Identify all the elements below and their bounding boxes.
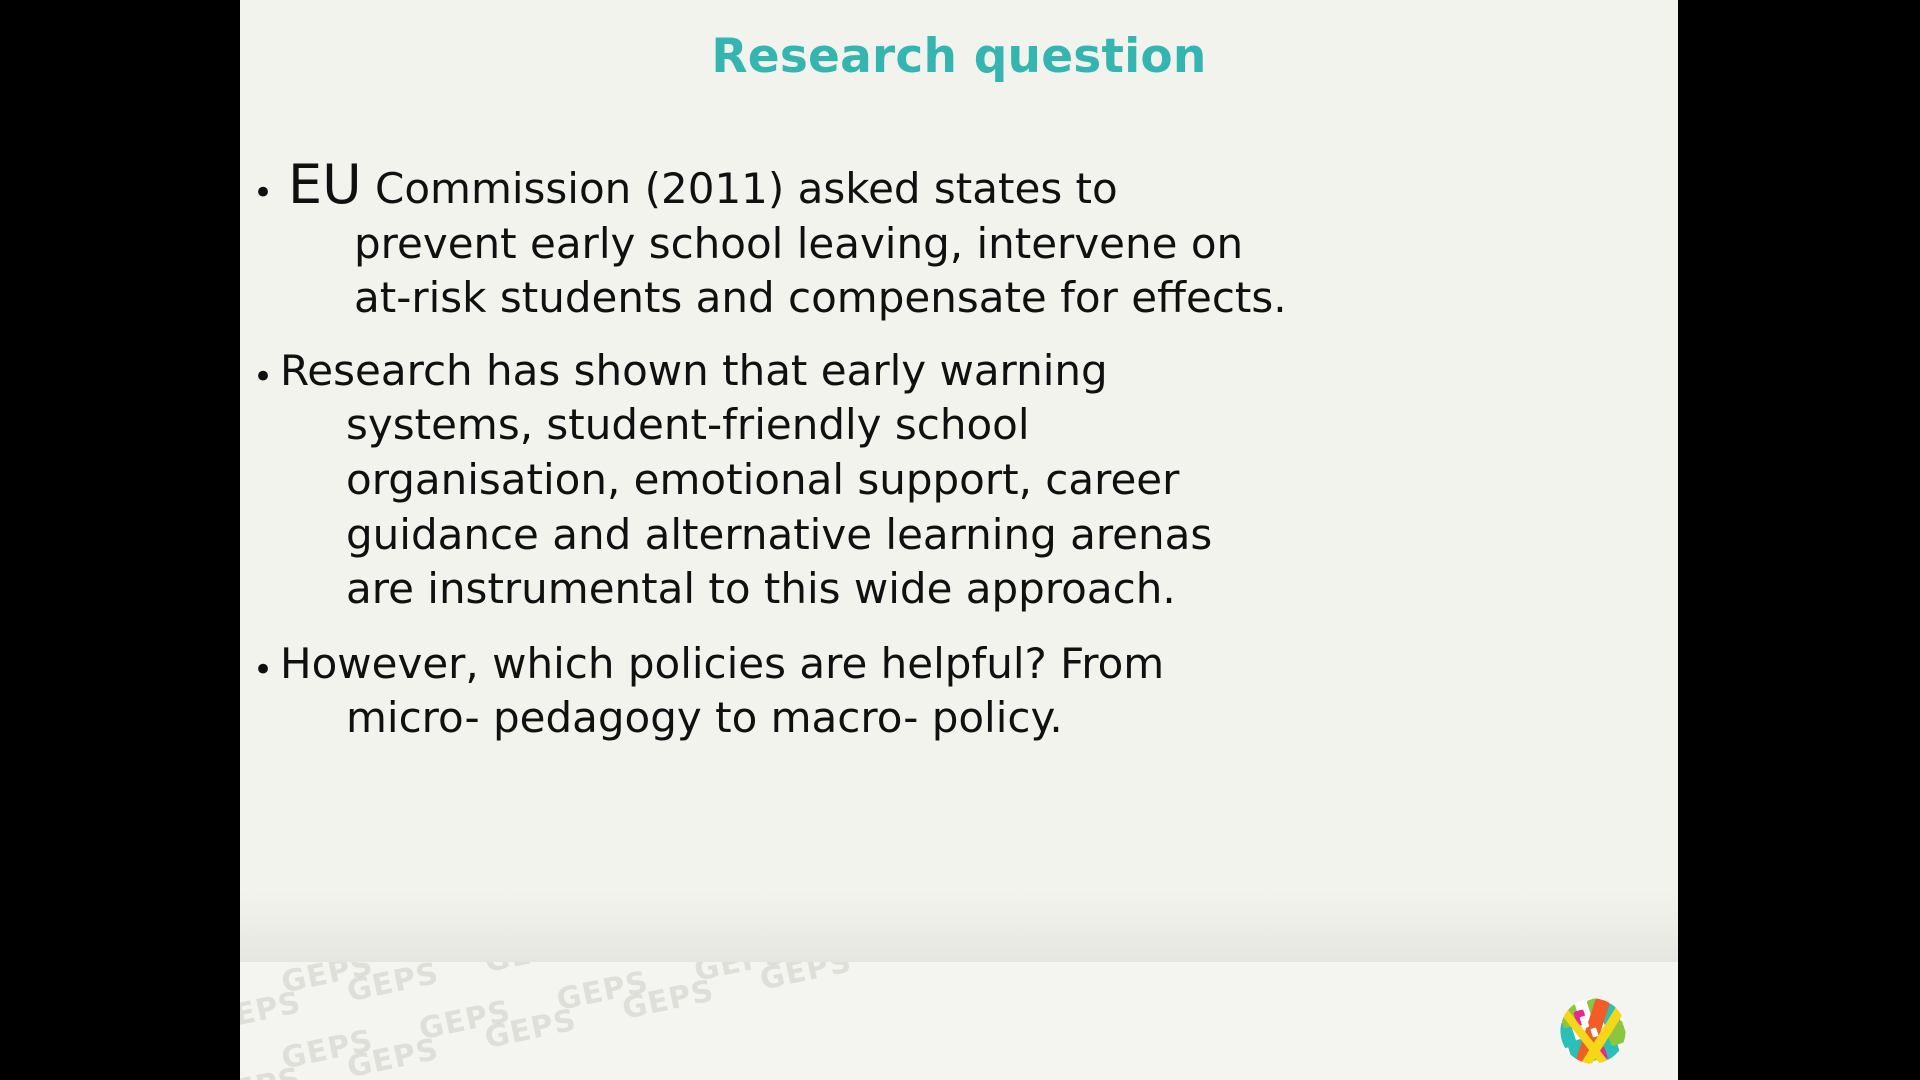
bullet-3-line-1: However, which policies are helpful? Fro… [280, 637, 1448, 692]
presentation-slide: Research question • EU Commission (2011)… [240, 0, 1678, 1080]
bullet-item-1: • EU Commission (2011) asked states to p… [246, 158, 1666, 326]
bullet-2-line-3: organisation, emotional support, career [280, 453, 1448, 508]
watermark-word: GEPS [240, 985, 304, 1039]
bullet-text-2: Research has shown that early warning sy… [280, 344, 1460, 617]
slide-title: Research question [240, 30, 1678, 84]
bullet-2-line-2: systems, student-friendly school [280, 398, 1448, 453]
bullet-1-line-1: Commission (2011) asked states to [362, 164, 1118, 213]
bullet-text-3: However, which policies are helpful? Fro… [280, 637, 1460, 746]
bullet-item-3: • However, which policies are helpful? F… [246, 637, 1666, 746]
geps-watermark-strip: GEPSGEPSGEPSGEPSGEPSGEPSGEPSGEPSGEPSGEPS… [240, 962, 1678, 1080]
bullet-2-line-4: guidance and alternative learning arenas [280, 508, 1448, 563]
bullet-marker-icon: • [246, 637, 280, 687]
geps-mosaic-logo-icon [1556, 994, 1630, 1068]
bullet-2-line-5: are instrumental to this wide approach. [280, 562, 1448, 617]
bullet-text-1: EU Commission (2011) asked states to pre… [280, 158, 1625, 326]
watermark-word: GEPS [895, 962, 993, 968]
bullet-item-2: • Research has shown that early warning … [246, 344, 1666, 617]
bottom-gradient-band [240, 892, 1678, 962]
bullet-1-line-3: at-risk students and compensate for effe… [280, 271, 1613, 326]
watermark-word: GEPS [240, 1061, 304, 1080]
watermark-word: GEPS [757, 962, 855, 998]
bullet-1-lead: EU [288, 153, 362, 216]
bullet-2-line-1: Research has shown that early warning [280, 344, 1448, 399]
slide-body: • EU Commission (2011) asked states to p… [246, 158, 1666, 762]
bullet-1-line-2: prevent early school leaving, intervene … [280, 217, 1613, 272]
screen: Research question • EU Commission (2011)… [0, 0, 1920, 1080]
watermark-word: GEPS [482, 962, 580, 980]
bullet-3-line-2: micro- pedagogy to macro- policy. [280, 691, 1448, 746]
bullet-marker-icon: • [246, 158, 280, 210]
bullet-marker-icon: • [246, 344, 280, 394]
